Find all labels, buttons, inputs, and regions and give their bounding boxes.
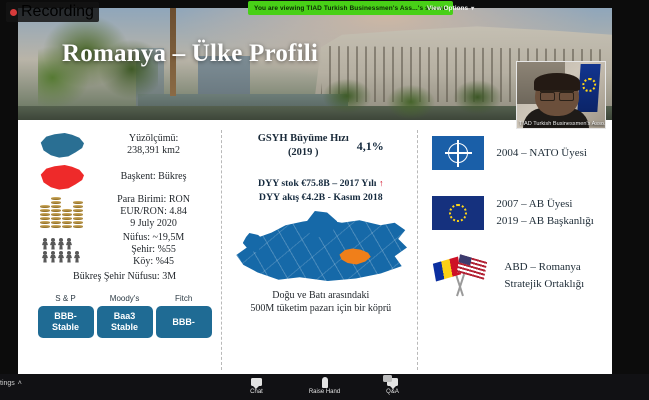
status-badge: BBB- [156, 306, 212, 338]
membership-row-nato: 2004 – NATO Üyesi [432, 136, 600, 170]
rating-agency-label: S & P [38, 294, 94, 303]
credit-ratings-group: S & P BBB- Stable Moody's Baa3 Stable [32, 294, 217, 338]
currency-name: Para Birimi: RON [90, 194, 217, 206]
eu-membership-text: 2007 – AB Üyesi 2019 – AB Başkanlığı [496, 196, 593, 230]
glasses-icon [540, 90, 574, 97]
fact-row-currency: Para Birimi: RON EUR/RON: 4.84 9 July 20… [32, 194, 217, 230]
presenter-video-thumbnail[interactable]: TIAD Turkish Businessmen's Asso... [516, 61, 606, 129]
fact-row-capital: Başkent: Bükreş [32, 162, 217, 192]
romania-map-red-icon [32, 162, 90, 192]
fdi-flow-line: DYY akış €4.2B - Kasım 2018 [230, 191, 411, 205]
rating-outlook: Stable [40, 322, 92, 333]
population-total: Nüfus: ~19,5M [90, 232, 217, 244]
eu-stars-icon [449, 204, 467, 222]
rating-value: BBB- [158, 317, 210, 328]
romania-map-blue-icon [32, 130, 90, 160]
europe-map-illustration [233, 219, 409, 281]
area-value: 238,391 km2 [90, 145, 217, 157]
qa-icon [372, 376, 414, 388]
nato-membership-text: 2004 – NATO Üyesi [496, 145, 587, 162]
up-arrow-icon: ↑ [379, 178, 384, 188]
bridge-caption: Doğu ve Batı arasındaki 500M tüketim paz… [230, 289, 411, 315]
currency-rate: EUR/RON: 4.84 [90, 206, 217, 218]
bucharest-population: Bükreş Şehir Nüfusu: 3M [32, 271, 217, 282]
fact-population-text: Nüfus: ~19,5M Şehir: %55 Köy: %45 [90, 232, 217, 268]
recording-dot-icon [10, 9, 17, 16]
gdp-growth-row: GSYH Büyüme Hızı (2019 ) 4,1% [230, 132, 411, 160]
raise-hand-button[interactable]: Raise Hand [304, 376, 346, 395]
right-column: 2004 – NATO Üyesi 2007 – AB Üyesi 2019 –… [418, 126, 604, 376]
raise-hand-icon [304, 376, 346, 388]
slide-title: Romanya – Ülke Profili [62, 40, 318, 68]
rating-moodys: Moody's Baa3 Stable [97, 294, 153, 338]
view-options-button[interactable]: View Options ▾ [421, 1, 480, 15]
fact-currency-text: Para Birimi: RON EUR/RON: 4.84 9 July 20… [90, 194, 217, 230]
eu-flag-background-icon [577, 64, 600, 112]
qa-label: Q&A [372, 389, 414, 395]
rating-agency-label: Moody's [97, 294, 153, 303]
settings-button[interactable]: tings ˄ [0, 380, 22, 387]
fact-area-text: Yüzölçümü: 238,391 km2 [90, 133, 217, 157]
eu-membership-line1: 2007 – AB Üyesi [496, 196, 593, 213]
left-column: Yüzölçümü: 238,391 km2 Başkent: Bükreş [26, 126, 221, 376]
rating-fitch: Fitch BBB- [156, 294, 212, 338]
usa-partnership-text: ABD – Romanya Stratejik Ortaklığı [504, 259, 584, 293]
people-icon [32, 238, 90, 263]
slide-content: Yüzölçümü: 238,391 km2 Başkent: Bükreş [18, 120, 612, 380]
area-label: Yüzölçümü: [90, 133, 217, 145]
gdp-growth-label-line2: (2019 ) [258, 146, 349, 160]
fact-capital-text: Başkent: Bükreş [90, 171, 217, 183]
membership-row-eu: 2007 – AB Üyesi 2019 – AB Başkanlığı [432, 196, 600, 230]
qa-button[interactable]: Q&A [372, 376, 414, 395]
rating-outlook: Stable [99, 322, 151, 333]
zoom-screen-share-view: Recording You are viewing TIAD Turkish B… [0, 0, 649, 400]
population-rural: Köy: %45 [90, 256, 217, 268]
usa-partnership-line2: Stratejik Ortaklığı [504, 276, 584, 293]
status-badge: BBB- Stable [38, 306, 94, 338]
rating-value: Baa3 [99, 311, 151, 322]
membership-row-usa: ABD – Romanya Stratejik Ortaklığı [432, 256, 600, 296]
rating-value: BBB- [40, 311, 92, 322]
chat-icon [236, 376, 278, 388]
gdp-growth-label-line1: GSYH Büyüme Hızı [258, 132, 349, 146]
fdi-stock-line: DYY stok €75.8B – 2017 Yılı ↑ [230, 176, 411, 191]
bridge-caption-line1: Doğu ve Batı arasındaki [230, 289, 411, 302]
shared-slide: Romanya – Ülke Profili TIAD Turkish Busi… [18, 8, 612, 380]
pip-person-hair [534, 73, 580, 91]
bridge-caption-line2: 500M tüketim pazarı için bir köprü [230, 302, 411, 315]
chat-button[interactable]: Chat [236, 376, 278, 395]
chat-label: Chat [236, 389, 278, 395]
view-options-label: View Options [427, 5, 468, 12]
usa-partnership-line1: ABD – Romanya [504, 259, 584, 276]
chevron-down-icon: ▾ [471, 5, 474, 12]
center-column: GSYH Büyüme Hızı (2019 ) 4,1% DYY stok €… [222, 126, 417, 376]
nato-flag-icon [432, 136, 484, 170]
usa-flag-canton [459, 254, 472, 265]
rating-sp: S & P BBB- Stable [38, 294, 94, 338]
raise-hand-label: Raise Hand [304, 389, 346, 395]
fdi-block: DYY stok €75.8B – 2017 Yılı ↑ DYY akış €… [230, 176, 411, 205]
nato-compass-icon [448, 143, 468, 163]
coins-icon [32, 197, 90, 228]
fact-row-area: Yüzölçümü: 238,391 km2 [32, 130, 217, 160]
pip-participant-name: TIAD Turkish Businessmen's Asso... [517, 121, 605, 127]
rating-agency-label: Fitch [156, 294, 212, 303]
toolbar-buttons: Chat Raise Hand Q&A [236, 376, 414, 395]
eu-membership-line2: 2019 – AB Başkanlığı [496, 213, 593, 230]
fact-row-population: Nüfus: ~19,5M Şehir: %55 Köy: %45 [32, 232, 217, 268]
currency-date: 9 July 2020 [90, 218, 217, 230]
chevron-up-icon: ˄ [18, 380, 22, 387]
meeting-toolbar: tings ˄ Chat Raise Hand Q&A [0, 374, 649, 400]
population-urban: Şehir: %55 [90, 244, 217, 256]
settings-label: tings [0, 380, 15, 387]
gdp-growth-label: GSYH Büyüme Hızı (2019 ) [258, 132, 349, 160]
romania-usa-flags-icon [432, 256, 492, 296]
gdp-growth-value: 4,1% [357, 139, 384, 154]
eu-stars-icon [582, 78, 597, 92]
status-badge: Baa3 Stable [97, 306, 153, 338]
fdi-stock-text: DYY stok €75.8B – 2017 Yılı [258, 178, 376, 189]
eu-flag-icon [432, 196, 484, 230]
